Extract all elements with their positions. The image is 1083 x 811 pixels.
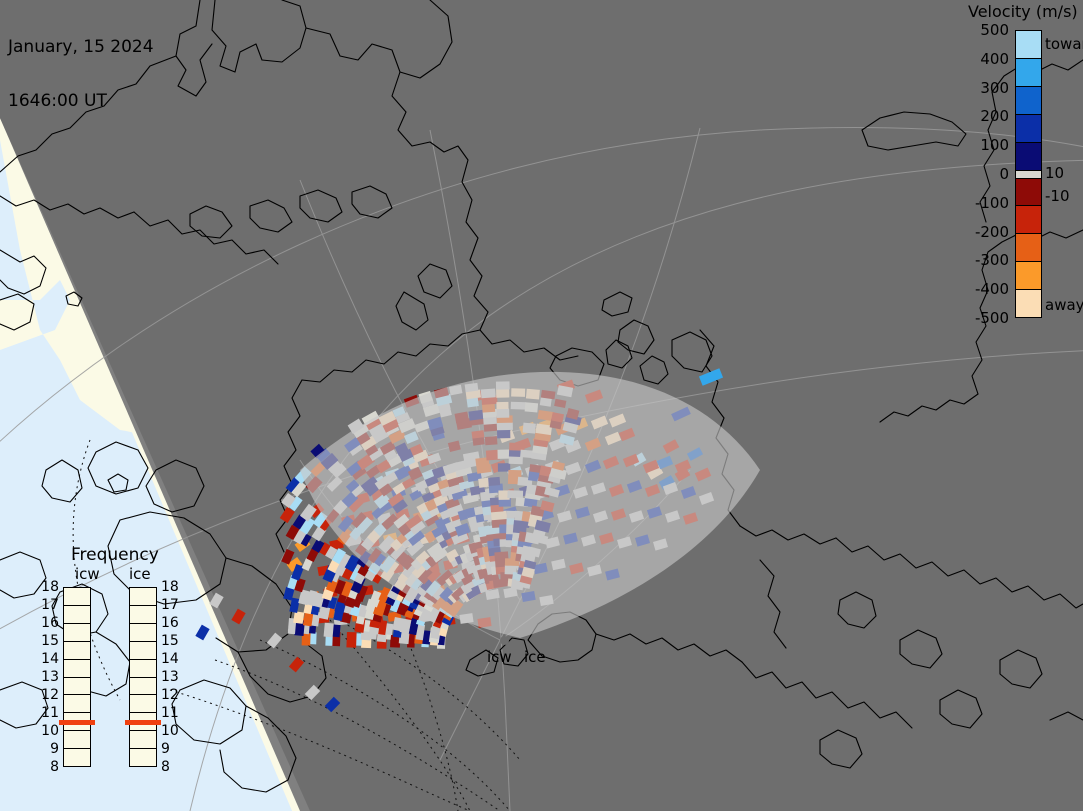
velocity-side-labels: toward10-10away bbox=[1045, 30, 1083, 318]
radar-site-marker bbox=[500, 636, 509, 645]
velocity-band-10 bbox=[1016, 290, 1041, 317]
timestamp-block: January, 15 2024 1646:00 UT bbox=[8, 2, 154, 146]
frequency-ticks-icw: 18171615141312111098 bbox=[39, 587, 59, 767]
velocity-band-2 bbox=[1016, 87, 1041, 115]
frequency-tick-icw-9: 9 bbox=[50, 741, 59, 757]
frequency-segment bbox=[130, 606, 156, 624]
velocity-tick-300: 300 bbox=[980, 79, 1009, 97]
frequency-segment bbox=[130, 731, 156, 749]
frequency-tick-ice-18: 18 bbox=[161, 579, 179, 595]
timestamp-date: January, 15 2024 bbox=[8, 38, 154, 56]
velocity-band-4 bbox=[1016, 143, 1041, 171]
frequency-legend-title: Frequency bbox=[71, 545, 159, 565]
frequency-segment bbox=[130, 695, 156, 713]
frequency-tick-ice-10: 10 bbox=[161, 723, 179, 739]
velocity-toward-label: toward bbox=[1045, 35, 1083, 53]
frequency-segment bbox=[64, 624, 90, 642]
velocity-band-8 bbox=[1016, 234, 1041, 262]
velocity-tick--300: -300 bbox=[975, 251, 1009, 269]
frequency-segment bbox=[130, 660, 156, 678]
frequency-tick-ice-8: 8 bbox=[161, 759, 170, 775]
frequency-ticks-ice: 18171615141312111098 bbox=[161, 587, 181, 767]
timestamp-time: 1646:00 UT bbox=[8, 92, 154, 110]
frequency-tick-ice-9: 9 bbox=[161, 741, 170, 757]
frequency-tick-icw-10: 10 bbox=[41, 723, 59, 739]
frequency-segment bbox=[130, 588, 156, 606]
frequency-tick-icw-8: 8 bbox=[50, 759, 59, 775]
frequency-segment bbox=[64, 749, 90, 766]
velocity-tick-100: 100 bbox=[980, 136, 1009, 154]
frequency-column-label-ice: ice bbox=[129, 565, 151, 583]
frequency-legend: Frequency icw ice 18171615141312111098 1… bbox=[45, 545, 230, 785]
frequency-scale-ice bbox=[129, 587, 157, 767]
velocity-band-0 bbox=[1016, 31, 1041, 59]
frequency-tick-icw-16: 16 bbox=[41, 615, 59, 631]
velocity-cell bbox=[324, 623, 334, 638]
velocity-band-9 bbox=[1016, 262, 1041, 290]
frequency-tick-ice-17: 17 bbox=[161, 597, 179, 613]
velocity-band-1 bbox=[1016, 59, 1041, 87]
frequency-segment bbox=[64, 731, 90, 749]
velocity-colorbar bbox=[1015, 30, 1042, 318]
frequency-column-label-icw: icw bbox=[75, 565, 100, 583]
velocity-band-5 bbox=[1016, 171, 1041, 179]
frequency-tick-icw-14: 14 bbox=[41, 651, 59, 667]
frequency-tick-icw-15: 15 bbox=[41, 633, 59, 649]
velocity-tick--400: -400 bbox=[975, 280, 1009, 298]
frequency-marker-ice bbox=[125, 720, 161, 725]
radar-fan-plot-canvas: January, 15 2024 1646:00 UT Velocity (m/… bbox=[0, 0, 1083, 811]
velocity-cell bbox=[346, 632, 356, 648]
frequency-segment bbox=[64, 642, 90, 660]
frequency-segment bbox=[64, 660, 90, 678]
frequency-tick-ice-15: 15 bbox=[161, 633, 179, 649]
velocity-tick-200: 200 bbox=[980, 107, 1009, 125]
frequency-segment bbox=[64, 695, 90, 713]
frequency-segment bbox=[64, 588, 90, 606]
velocity-tick-labels: 5004003002001000-100-200-300-400-500 bbox=[960, 30, 1012, 318]
frequency-segment bbox=[130, 624, 156, 642]
frequency-tick-icw-17: 17 bbox=[41, 597, 59, 613]
frequency-scale-icw bbox=[63, 587, 91, 767]
frequency-tick-ice-14: 14 bbox=[161, 651, 179, 667]
frequency-segment bbox=[130, 678, 156, 696]
velocity-tick--500: -500 bbox=[975, 309, 1009, 327]
velocity-band-7 bbox=[1016, 206, 1041, 234]
frequency-segment bbox=[130, 642, 156, 660]
velocity-legend: Velocity (m/s) 5004003002001000-100-200-… bbox=[960, 0, 1083, 340]
frequency-segment bbox=[130, 749, 156, 766]
frequency-tick-icw-18: 18 bbox=[41, 579, 59, 595]
map-site-label-ice: ice bbox=[524, 648, 546, 666]
frequency-marker-icw bbox=[59, 720, 95, 725]
map-site-label-icw: icw bbox=[487, 648, 512, 666]
velocity-tick--100: -100 bbox=[975, 194, 1009, 212]
velocity-center-upper-label: 10 bbox=[1045, 164, 1064, 182]
frequency-segment bbox=[64, 606, 90, 624]
velocity-tick-0: 0 bbox=[999, 165, 1009, 183]
frequency-tick-ice-12: 12 bbox=[161, 687, 179, 703]
velocity-cell bbox=[293, 611, 304, 624]
frequency-segment bbox=[64, 678, 90, 696]
velocity-tick--200: -200 bbox=[975, 223, 1009, 241]
velocity-away-label: away bbox=[1045, 296, 1083, 314]
frequency-tick-icw-13: 13 bbox=[41, 669, 59, 685]
velocity-legend-title: Velocity (m/s) bbox=[968, 2, 1078, 21]
frequency-tick-icw-11: 11 bbox=[41, 705, 59, 721]
frequency-tick-ice-11: 11 bbox=[161, 705, 179, 721]
velocity-tick-400: 400 bbox=[980, 50, 1009, 68]
velocity-tick-500: 500 bbox=[980, 21, 1009, 39]
frequency-tick-ice-16: 16 bbox=[161, 615, 179, 631]
frequency-tick-ice-13: 13 bbox=[161, 669, 179, 685]
velocity-center-lower-label: -10 bbox=[1045, 187, 1070, 205]
velocity-band-6 bbox=[1016, 179, 1041, 207]
velocity-band-3 bbox=[1016, 115, 1041, 143]
frequency-tick-icw-12: 12 bbox=[41, 687, 59, 703]
